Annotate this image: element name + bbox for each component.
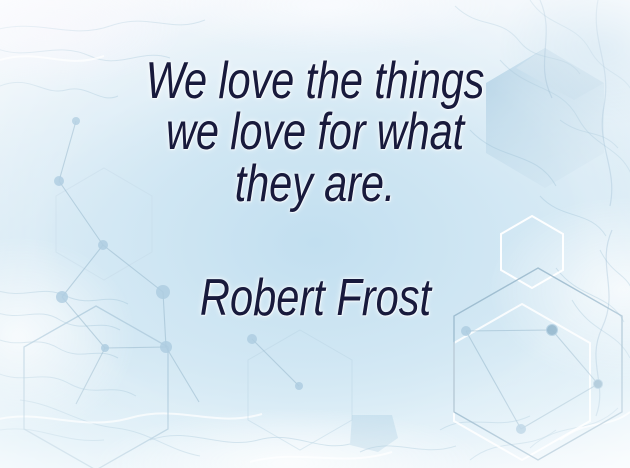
- quote-text: We love the things we love for what they…: [127, 56, 503, 210]
- quote-author: Robert Frost: [199, 210, 430, 324]
- quote-card: We love the things we love for what they…: [0, 0, 630, 468]
- quote-content: We love the things we love for what they…: [0, 0, 630, 468]
